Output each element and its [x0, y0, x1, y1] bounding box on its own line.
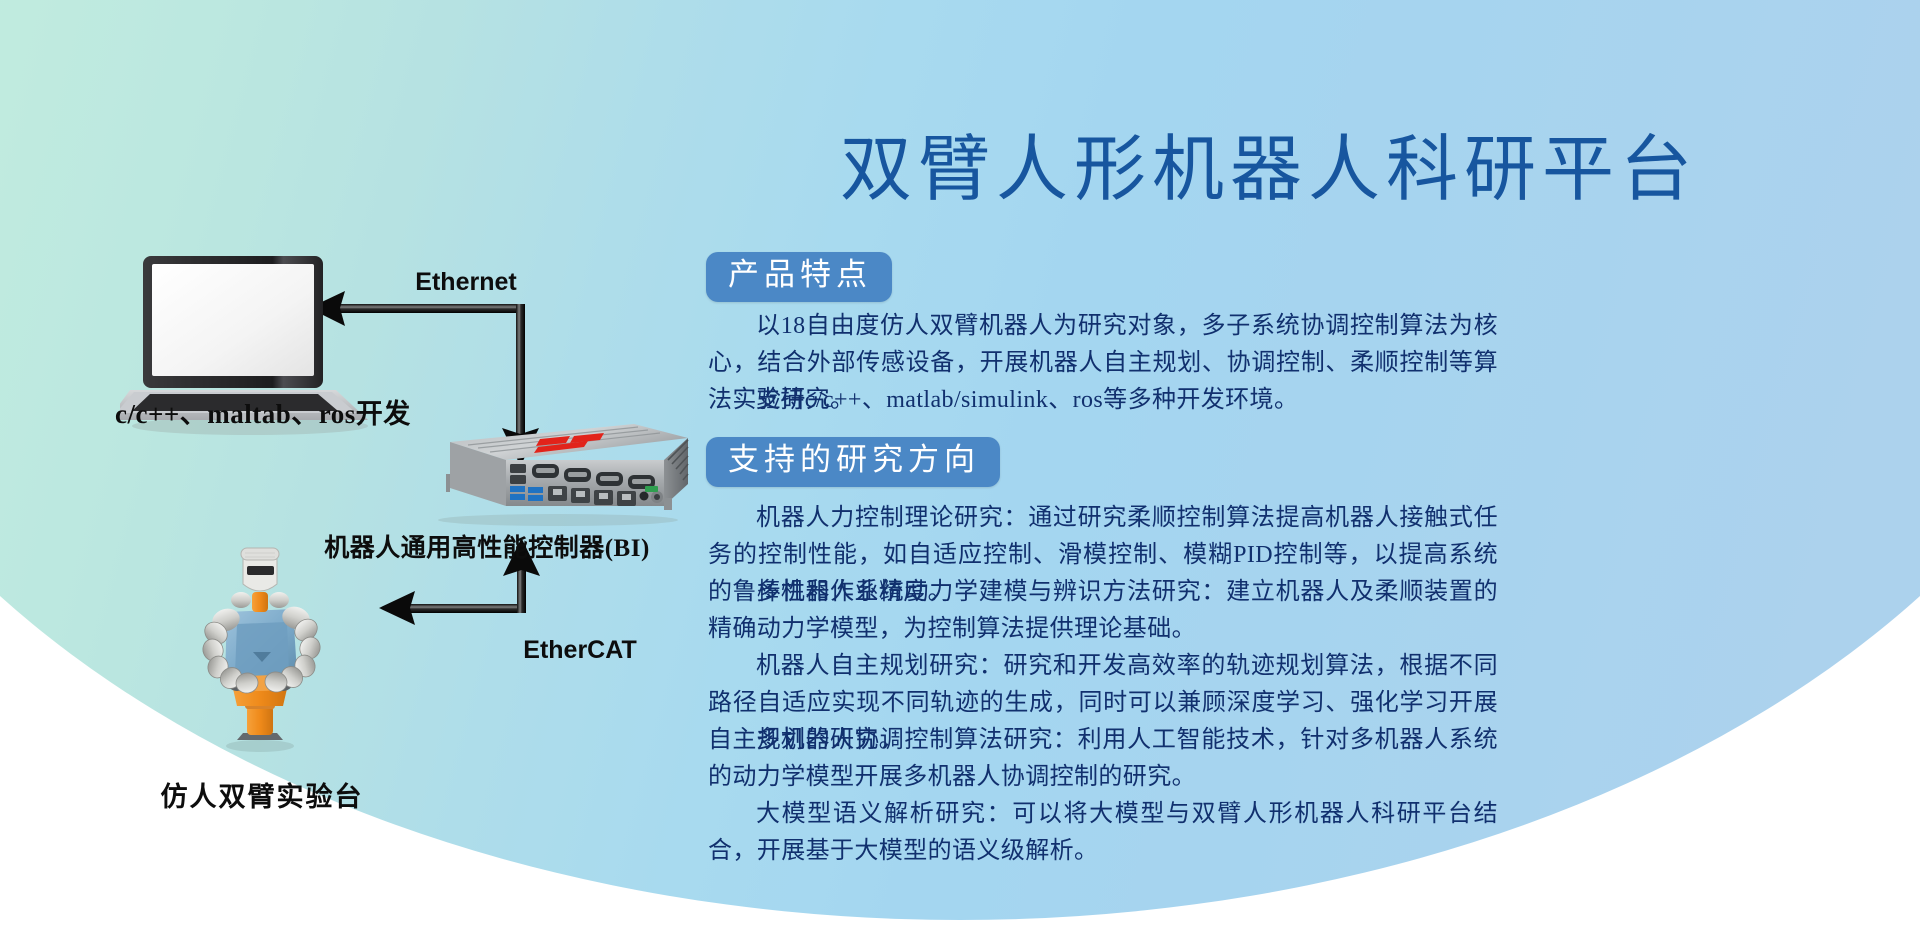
humanoid-robot-icon	[165, 540, 355, 755]
industrial-controller-icon	[420, 412, 695, 527]
content-panel: 双臂人形机器人科研平台 产品特点 以18自由度仿人双臂机器人为研究对象，多子系统…	[690, 0, 1920, 937]
section-badge-features: 产品特点	[706, 252, 892, 302]
node-label-controller: 机器人通用高性能控制器(BI)	[324, 528, 650, 564]
page-title: 双臂人形机器人科研平台	[840, 110, 1698, 215]
directions-paragraph-4: 多机器人协调控制算法研究：利用人工智能技术，针对多机器人系统的动力学模型开展多机…	[708, 722, 1498, 796]
directions-paragraph-5: 大模型语义解析研究：可以将大模型与双臂人形机器人科研平台结合，开展基于大模型的语…	[708, 796, 1498, 870]
section-badge-directions: 支持的研究方向	[706, 437, 1000, 487]
system-architecture-diagram: Ethernet c/c++、maltab、ros开发 机器人通用高性能控制器(…	[0, 0, 690, 937]
features-paragraph-2: 支持c/c++、matlab/simulink、ros等多种开发环境。	[708, 382, 1498, 419]
connection-label-ethernet: Ethernet	[415, 268, 516, 297]
node-label-laptop: c/c++、maltab、ros开发	[115, 392, 411, 431]
directions-paragraph-2: 多机器人系统动力学建模与辨识方法研究：建立机器人及柔顺装置的精确动力学模型，为控…	[708, 574, 1498, 648]
node-label-robot: 仿人双臂实验台	[161, 775, 364, 814]
connection-label-ethercat: EtherCAT	[523, 636, 636, 665]
poster-canvas: Ethernet c/c++、maltab、ros开发 机器人通用高性能控制器(…	[0, 0, 1920, 937]
